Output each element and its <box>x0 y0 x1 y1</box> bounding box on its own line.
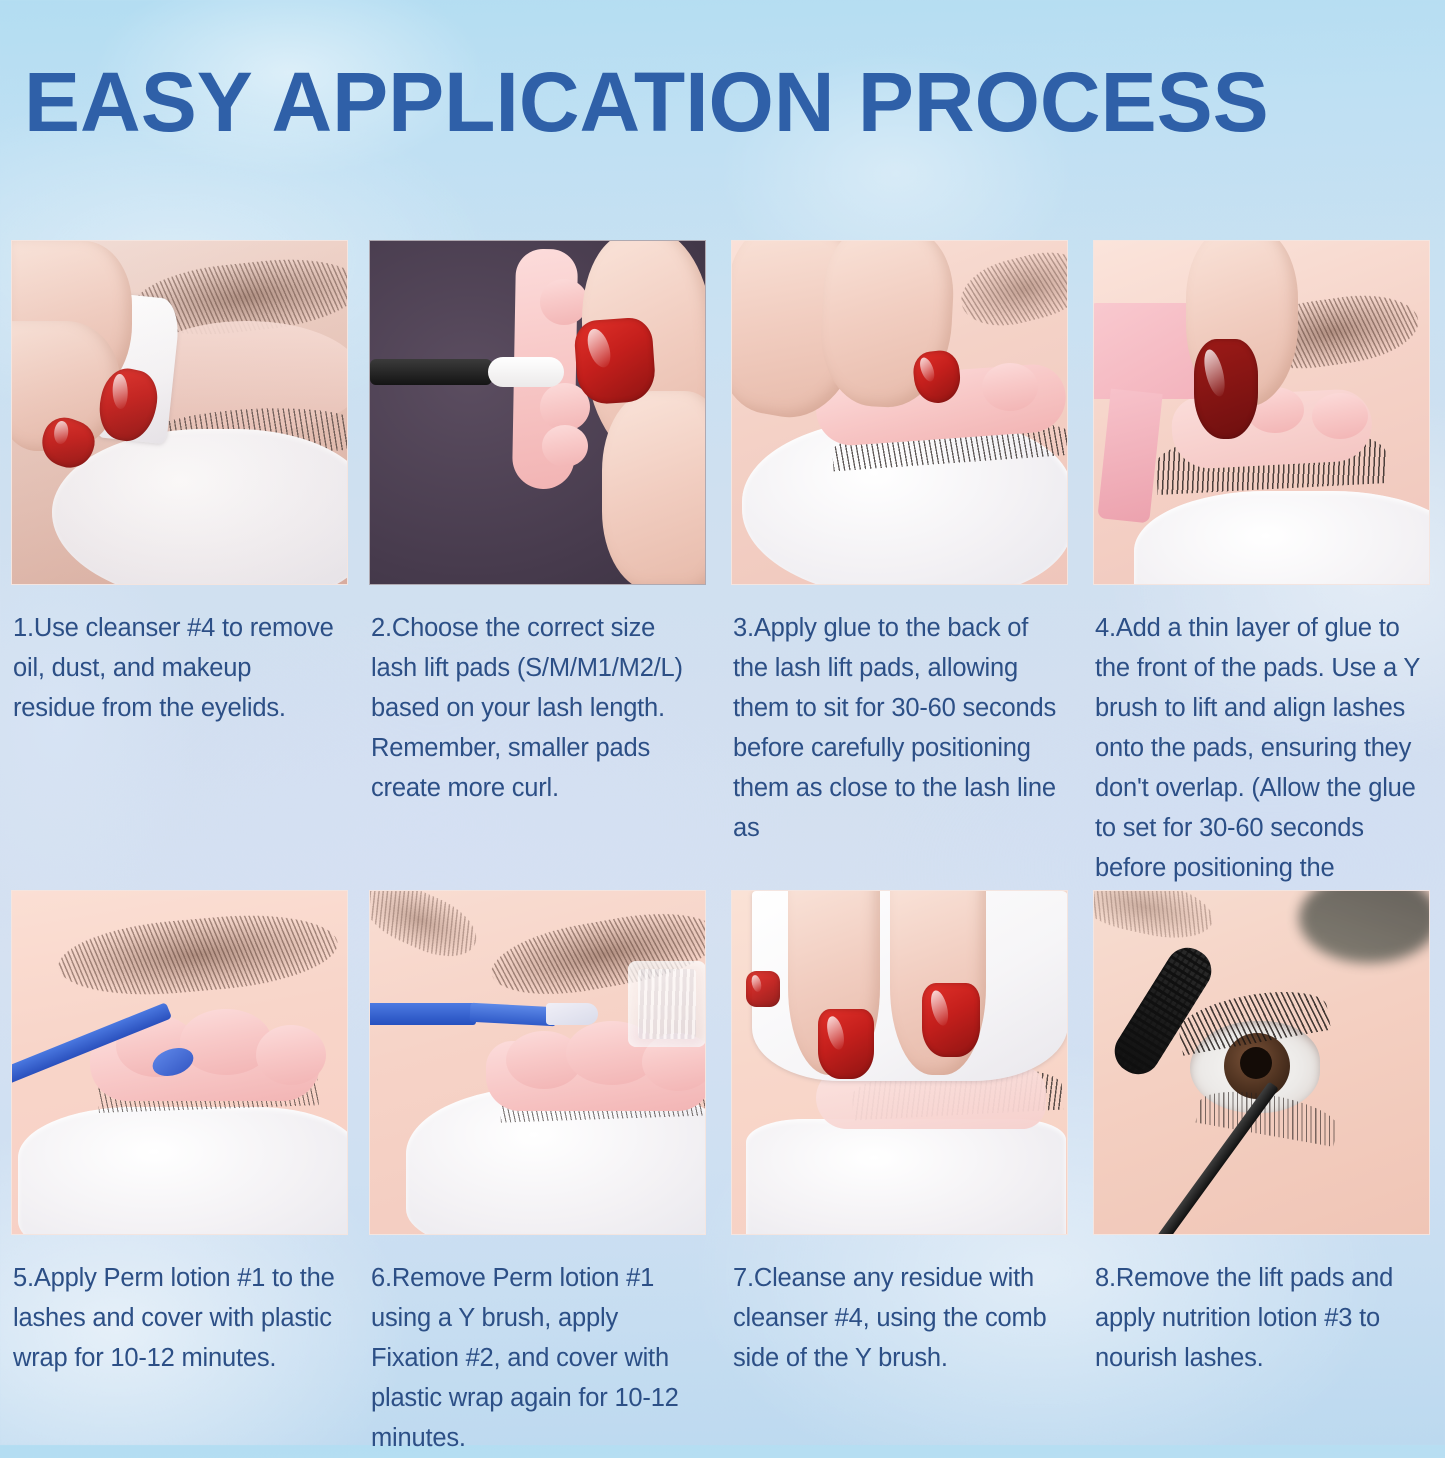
step-4-caption: 4.Add a thin layer of glue to the front … <box>1095 608 1420 928</box>
applicator-stick <box>370 359 492 385</box>
y-brush-tool <box>369 1003 476 1025</box>
step-3-apply-glue-back-photo <box>731 240 1068 585</box>
step-8-caption: 8.Remove the lift pads and apply nutriti… <box>1095 1258 1420 1378</box>
step-8-nutrition-lotion-photo <box>1093 890 1430 1235</box>
step-1-cleanse-eyelid-photo <box>11 240 348 585</box>
step-5-perm-lotion-photo <box>11 890 348 1235</box>
step-6-fixation-lotion-photo <box>369 890 706 1235</box>
step-7-caption: 7.Cleanse any residue with cleanser #4, … <box>733 1258 1058 1378</box>
step-6-caption: 6.Remove Perm lotion #1 using a Y brush,… <box>371 1258 696 1458</box>
red-nail <box>1194 339 1258 439</box>
red-nail <box>818 1009 874 1079</box>
step-4-align-lashes-photo <box>1093 240 1430 585</box>
step-2-caption: 2.Choose the correct size lash lift pads… <box>371 608 696 808</box>
pupil <box>1240 1047 1272 1079</box>
step-1-caption: 1.Use cleanser #4 to remove oil, dust, a… <box>13 608 338 728</box>
applicator-tip <box>488 357 564 387</box>
steps-grid: 1.Use cleanser #4 to remove oil, dust, a… <box>0 0 1445 1445</box>
step-3-caption: 3.Apply glue to the back of the lash lif… <box>733 608 1058 848</box>
step-5-caption: 5.Apply Perm lotion #1 to the lashes and… <box>13 1258 338 1378</box>
red-nail <box>922 983 980 1057</box>
red-nail <box>746 971 780 1007</box>
step-7-cleanse-residue-photo <box>731 890 1068 1235</box>
step-2-choose-lash-pad-photo <box>369 240 706 585</box>
y-brush-tip <box>546 1003 598 1025</box>
red-nail <box>573 316 657 405</box>
